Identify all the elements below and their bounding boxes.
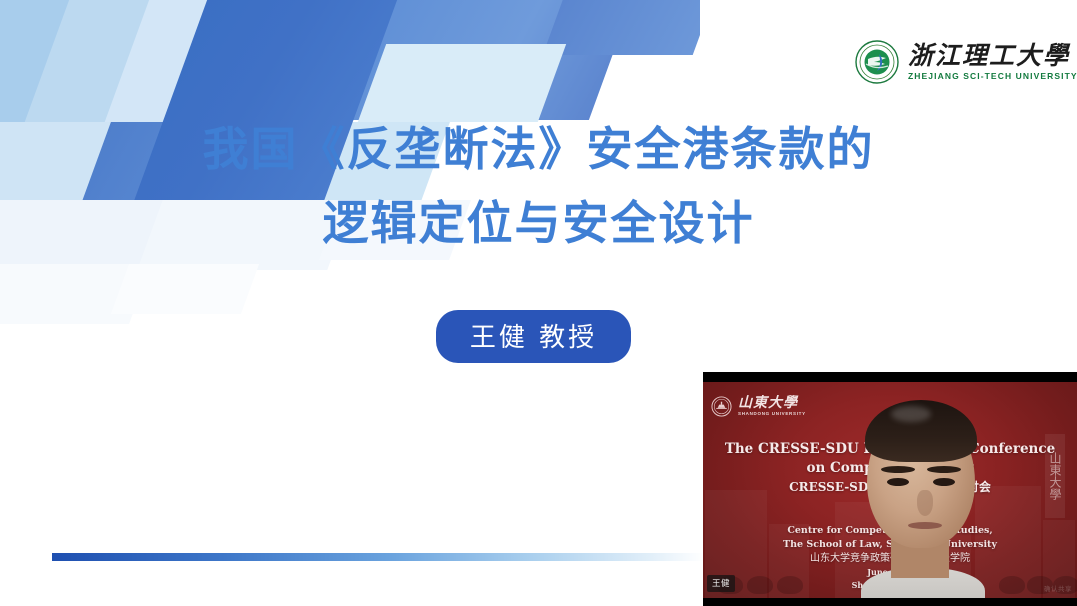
sdu-name-en: SHANDONG UNIVERSITY xyxy=(738,412,806,417)
hair-highlight xyxy=(891,406,931,422)
participant-eyebrow xyxy=(881,466,915,473)
zhejiang-sci-tech-university-emblem xyxy=(855,40,899,84)
webcam-participant-image xyxy=(859,400,985,598)
accent-rule xyxy=(52,553,704,561)
university-wordmark: 浙江理工大學 ZHEJIANG SCI-TECH UNIVERSITY xyxy=(908,43,1077,81)
participant-name-tag: 王健 xyxy=(707,575,735,592)
deco-shape xyxy=(111,264,259,314)
deco-shape xyxy=(339,0,647,120)
participant-mouth xyxy=(908,522,942,529)
university-logo: 浙江理工大學 ZHEJIANG SCI-TECH UNIVERSITY xyxy=(855,40,1077,84)
slide-title: 我国《反垄断法》安全港条款的 逻辑定位与安全设计 xyxy=(0,112,1077,260)
shandong-university-logo: 山東大學 SHANDONG UNIVERSITY xyxy=(711,396,806,417)
sdu-name-cn: 山東大學 xyxy=(738,396,806,410)
deco-shape xyxy=(358,44,566,122)
shandong-university-emblem xyxy=(711,396,732,417)
university-name-cn: 浙江理工大學 xyxy=(908,43,1077,68)
video-feed[interactable]: 山東大學 山東大學 SHANDONG UNIVERSITY The CRESSE… xyxy=(703,382,1077,598)
speaker-badge: 王健 教授 xyxy=(436,310,631,363)
video-overlay-panel[interactable]: 山東大學 山東大學 SHANDONG UNIVERSITY The CRESSE… xyxy=(703,372,1077,606)
slide-title-line-2: 逻辑定位与安全设计 xyxy=(0,186,1077,260)
participant-hair xyxy=(865,400,977,462)
participant-eye xyxy=(887,478,909,486)
deco-shape xyxy=(543,0,700,55)
presentation-slide: 浙江理工大學 ZHEJIANG SCI-TECH UNIVERSITY 我国《反… xyxy=(0,0,1077,606)
university-name-en: ZHEJIANG SCI-TECH UNIVERSITY xyxy=(908,72,1077,81)
participant-eye xyxy=(933,478,955,486)
shandong-university-wordmark: 山東大學 SHANDONG UNIVERSITY xyxy=(738,396,806,417)
video-corner-watermark: 确认共享 xyxy=(1044,583,1072,593)
speaker-badge-row: 王健 教授 xyxy=(0,310,1077,363)
participant-nose xyxy=(917,490,933,516)
slide-title-line-1: 我国《反垄断法》安全港条款的 xyxy=(0,112,1077,186)
participant-eyebrow xyxy=(927,466,961,473)
